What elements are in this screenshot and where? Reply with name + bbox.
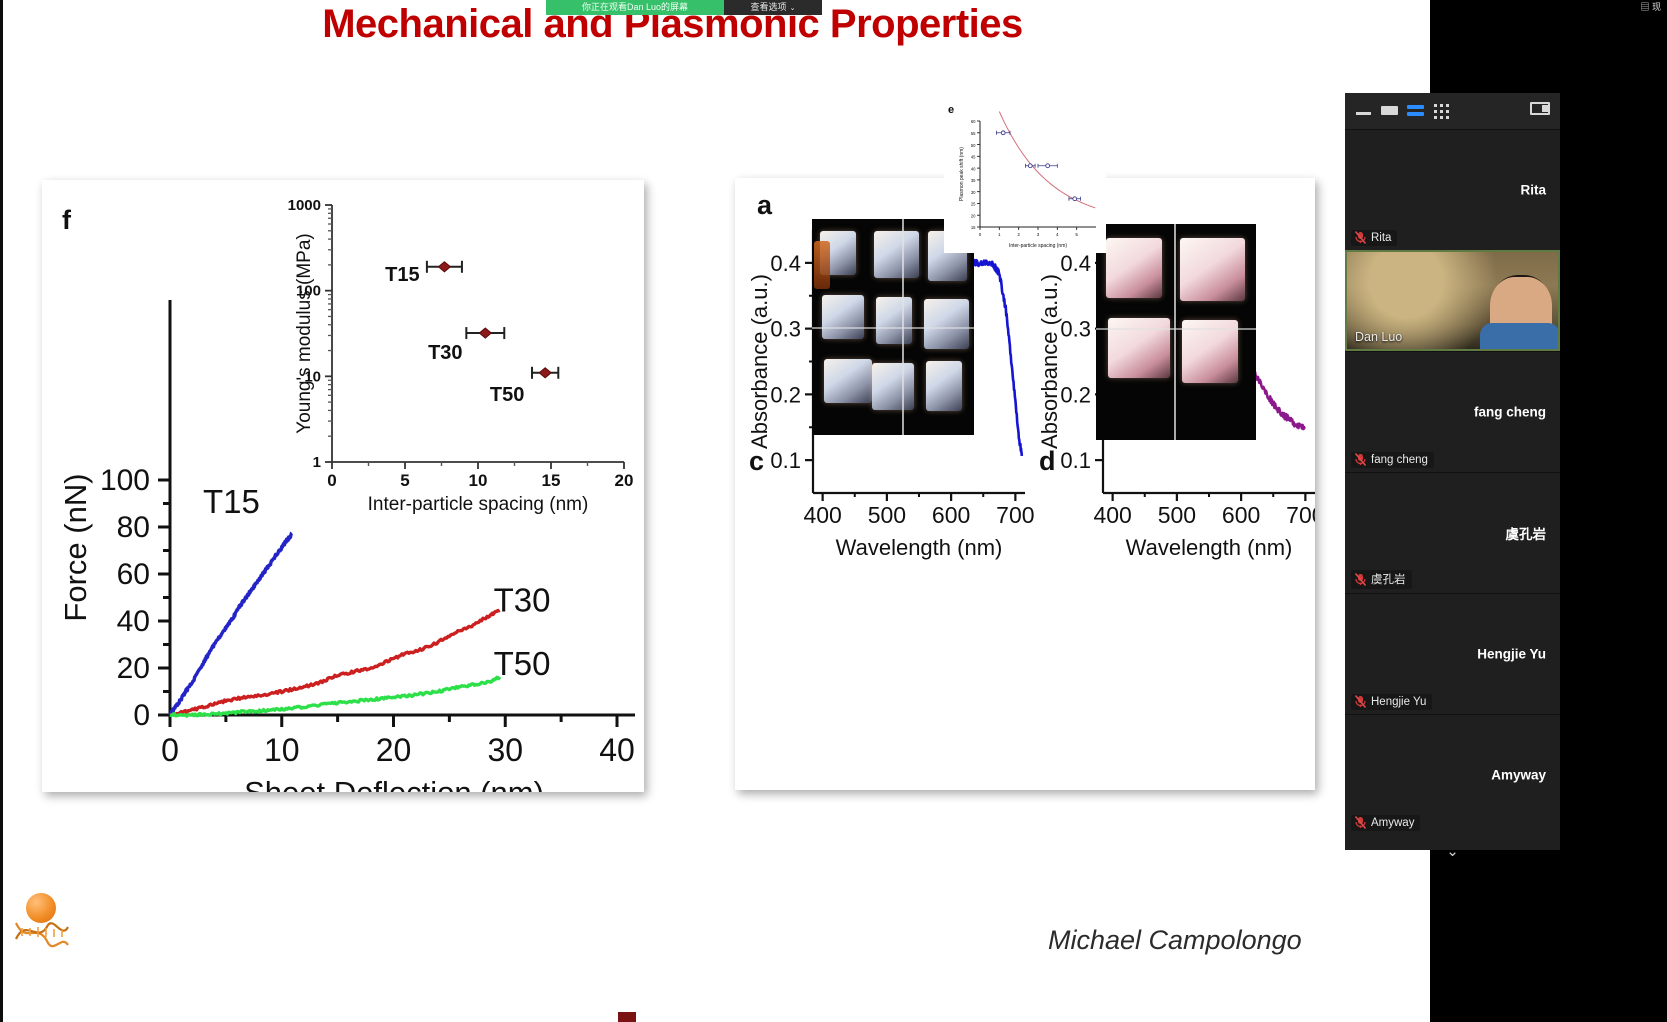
svg-text:400: 400 <box>803 502 841 528</box>
svg-text:Absorbance (a.u.): Absorbance (a.u.) <box>747 274 772 449</box>
nanoparticle-blob <box>872 363 914 410</box>
speaker-view-icon[interactable] <box>1407 102 1425 118</box>
participant-display-name: fang cheng <box>1345 405 1546 420</box>
nanoparticle-blob <box>876 297 912 344</box>
svg-text:T15: T15 <box>385 264 419 286</box>
svg-text:2: 2 <box>1017 232 1020 237</box>
panel-letter-a: a <box>757 190 772 221</box>
participant-tile[interactable]: Dan Luo <box>1345 250 1560 351</box>
svg-text:0.2: 0.2 <box>1060 382 1091 407</box>
svg-text:55: 55 <box>971 131 976 136</box>
participant-face <box>1490 277 1552 349</box>
nanoparticle-blob <box>822 295 864 339</box>
mute-icon <box>1355 695 1366 708</box>
participant-name-overlay: Dan Luo <box>1355 330 1402 344</box>
nanoparticle-blob <box>1180 238 1245 301</box>
participant-chip-label: Rita <box>1371 232 1391 244</box>
svg-text:20: 20 <box>376 732 412 768</box>
svg-text:600: 600 <box>1222 502 1260 528</box>
gallery-view-icon[interactable] <box>1434 102 1452 118</box>
nanoparticle-blob <box>926 361 962 411</box>
slide-bottom-marker <box>618 1012 636 1022</box>
svg-text:0: 0 <box>133 699 150 732</box>
participant-display-name: Hengjie Yu <box>1345 647 1546 662</box>
svg-text:60: 60 <box>971 119 976 124</box>
svg-text:500: 500 <box>868 502 906 528</box>
participant-name-chip: Rita <box>1351 230 1397 246</box>
tem-image-right <box>1096 224 1256 440</box>
svg-text:20: 20 <box>615 471 634 490</box>
share-status-pill: 你正在观看Dan Luo的屏幕 <box>546 0 724 15</box>
svg-text:5: 5 <box>1075 232 1078 237</box>
tem-crosshair-horizontal <box>1096 328 1256 330</box>
svg-text:T50: T50 <box>490 384 524 406</box>
participant-chip-label: Amyway <box>1371 817 1414 829</box>
dna-nanoparticle-logo <box>12 893 70 951</box>
participant-name-chip: Amyway <box>1351 815 1420 831</box>
presenter-name: Michael Campolongo <box>1048 925 1302 956</box>
maximize-icon[interactable] <box>1381 102 1399 118</box>
svg-text:5: 5 <box>400 471 409 490</box>
panel-letter-e: e <box>948 104 954 116</box>
tem-edge-artifact <box>814 241 830 289</box>
participant-name-chip: fang cheng <box>1351 452 1434 468</box>
view-options-label: 查看选项 <box>751 2 787 12</box>
participant-tile[interactable]: RitaRita <box>1345 129 1560 250</box>
svg-text:400: 400 <box>1093 502 1131 528</box>
svg-text:500: 500 <box>1158 502 1196 528</box>
svg-text:1000: 1000 <box>288 197 321 214</box>
mute-icon <box>1355 816 1366 829</box>
nanoparticle-blob <box>824 359 872 403</box>
svg-text:Wavelength (nm): Wavelength (nm) <box>1126 535 1293 560</box>
svg-text:Sheet Deflection (nm): Sheet Deflection (nm) <box>244 775 544 792</box>
participant-chip-label: Hengjie Yu <box>1371 696 1426 708</box>
svg-text:40: 40 <box>971 166 976 171</box>
zoom-panel-toolbar <box>1345 93 1560 129</box>
participant-chip-label: 虞孔岩 <box>1371 571 1406 587</box>
svg-text:30: 30 <box>971 190 976 195</box>
zoom-participant-panel: RitaRitaDan Luofang chengfang cheng虞孔岩虞孔… <box>1345 93 1560 850</box>
nanoparticle-blob <box>1108 318 1170 378</box>
svg-text:0.4: 0.4 <box>1060 251 1091 276</box>
svg-text:600: 600 <box>932 502 970 528</box>
svg-text:T15: T15 <box>203 483 260 520</box>
participant-tile[interactable]: Hengjie YuHengjie Yu <box>1345 593 1560 714</box>
svg-text:40: 40 <box>117 605 150 638</box>
svg-text:20: 20 <box>971 213 976 218</box>
panel-f-chart: 020406080100010203040Sheet Deflection (n… <box>42 180 644 792</box>
svg-text:1: 1 <box>998 232 1001 237</box>
svg-text:0: 0 <box>161 732 179 768</box>
svg-text:Wavelength (nm): Wavelength (nm) <box>836 535 1003 560</box>
participant-tile-list: RitaRitaDan Luofang chengfang cheng虞孔岩虞孔… <box>1345 129 1560 835</box>
svg-text:Absorbance (a.u.): Absorbance (a.u.) <box>1037 274 1062 449</box>
nanoparticle-blob <box>874 231 919 278</box>
svg-text:20: 20 <box>117 652 150 685</box>
svg-text:Plasmon peak shift (nm): Plasmon peak shift (nm) <box>959 147 965 201</box>
mute-icon <box>1355 453 1366 466</box>
svg-text:45: 45 <box>971 155 976 160</box>
tem-crosshair-horizontal <box>812 327 974 329</box>
svg-text:60: 60 <box>117 558 150 591</box>
panel-letter-c: c <box>749 446 764 477</box>
mute-icon <box>1355 231 1366 244</box>
minimize-icon[interactable] <box>1355 102 1373 118</box>
participant-display-name: 虞孔岩 <box>1345 523 1546 543</box>
svg-text:0: 0 <box>979 232 982 237</box>
svg-text:0.1: 0.1 <box>770 448 801 473</box>
screen-share-indicator-icon: ▤ 现 <box>1640 0 1661 15</box>
svg-text:50: 50 <box>971 143 976 148</box>
svg-text:3: 3 <box>1037 232 1040 237</box>
chevron-down-icon: ⌄ <box>790 5 796 12</box>
panel-letter-f: f <box>62 205 71 236</box>
svg-text:Inter-particle spacing (nm): Inter-particle spacing (nm) <box>1009 243 1067 249</box>
svg-text:4: 4 <box>1056 232 1059 237</box>
nanoparticle-blob <box>924 299 969 349</box>
svg-text:15: 15 <box>542 471 561 490</box>
participant-scroll-down-icon[interactable]: ⌄ <box>1345 835 1560 867</box>
view-options-button[interactable]: 查看选项⌄ <box>724 0 822 15</box>
participant-tile[interactable]: 虞孔岩虞孔岩 <box>1345 472 1560 593</box>
svg-text:15: 15 <box>971 225 976 230</box>
participant-name-chip: Hengjie Yu <box>1351 694 1432 710</box>
participant-tile[interactable]: AmywayAmyway <box>1345 714 1560 835</box>
logo-helix-icon <box>12 919 70 949</box>
panel-letter-d: d <box>1039 446 1056 477</box>
svg-text:T30: T30 <box>494 582 551 619</box>
svg-text:700: 700 <box>1286 502 1315 528</box>
nanoparticle-blob <box>1106 238 1162 298</box>
participant-chip-label: fang cheng <box>1371 454 1428 466</box>
svg-text:1: 1 <box>313 454 321 471</box>
svg-text:0.3: 0.3 <box>770 317 801 342</box>
svg-text:25: 25 <box>971 202 976 207</box>
svg-text:0: 0 <box>327 471 336 490</box>
participant-name-chip: 虞孔岩 <box>1351 570 1412 589</box>
svg-text:10: 10 <box>264 732 300 768</box>
participant-display-name: Amyway <box>1345 768 1546 783</box>
svg-text:T50: T50 <box>494 645 551 682</box>
tem-crosshair-vertical <box>1174 224 1176 440</box>
zoom-share-banner: 你正在观看Dan Luo的屏幕 查看选项⌄ <box>0 0 1430 15</box>
mute-icon <box>1355 573 1366 586</box>
shared-slide: Mechanical and Plasmonic Properties f 02… <box>0 0 1430 1022</box>
share-screen-icon[interactable] <box>1530 102 1550 117</box>
svg-text:0.3: 0.3 <box>1060 317 1091 342</box>
svg-text:Young's modulus (MPa): Young's modulus (MPa) <box>294 233 315 433</box>
participant-display-name: Rita <box>1345 183 1546 198</box>
panel-e-chart: 15202530354045505560012345Inter-particle… <box>944 105 1106 253</box>
figure-panel-f: f 020406080100010203040Sheet Deflection … <box>42 180 644 792</box>
svg-text:Force (nN): Force (nN) <box>58 473 93 621</box>
svg-text:0.2: 0.2 <box>770 382 801 407</box>
svg-text:80: 80 <box>117 511 150 544</box>
screen: Mechanical and Plasmonic Properties f 02… <box>0 0 1667 1022</box>
svg-text:30: 30 <box>487 732 523 768</box>
participant-tile[interactable]: fang chengfang cheng <box>1345 351 1560 472</box>
svg-text:40: 40 <box>599 732 635 768</box>
svg-text:0.1: 0.1 <box>1060 448 1091 473</box>
svg-text:700: 700 <box>996 502 1034 528</box>
svg-text:T30: T30 <box>428 342 462 364</box>
svg-text:0.4: 0.4 <box>770 251 801 276</box>
svg-text:100: 100 <box>100 464 150 497</box>
svg-text:35: 35 <box>971 178 976 183</box>
svg-text:10: 10 <box>469 471 488 490</box>
svg-text:Inter-particle spacing (nm): Inter-particle spacing (nm) <box>368 494 589 515</box>
slide-left-border <box>0 0 3 1022</box>
